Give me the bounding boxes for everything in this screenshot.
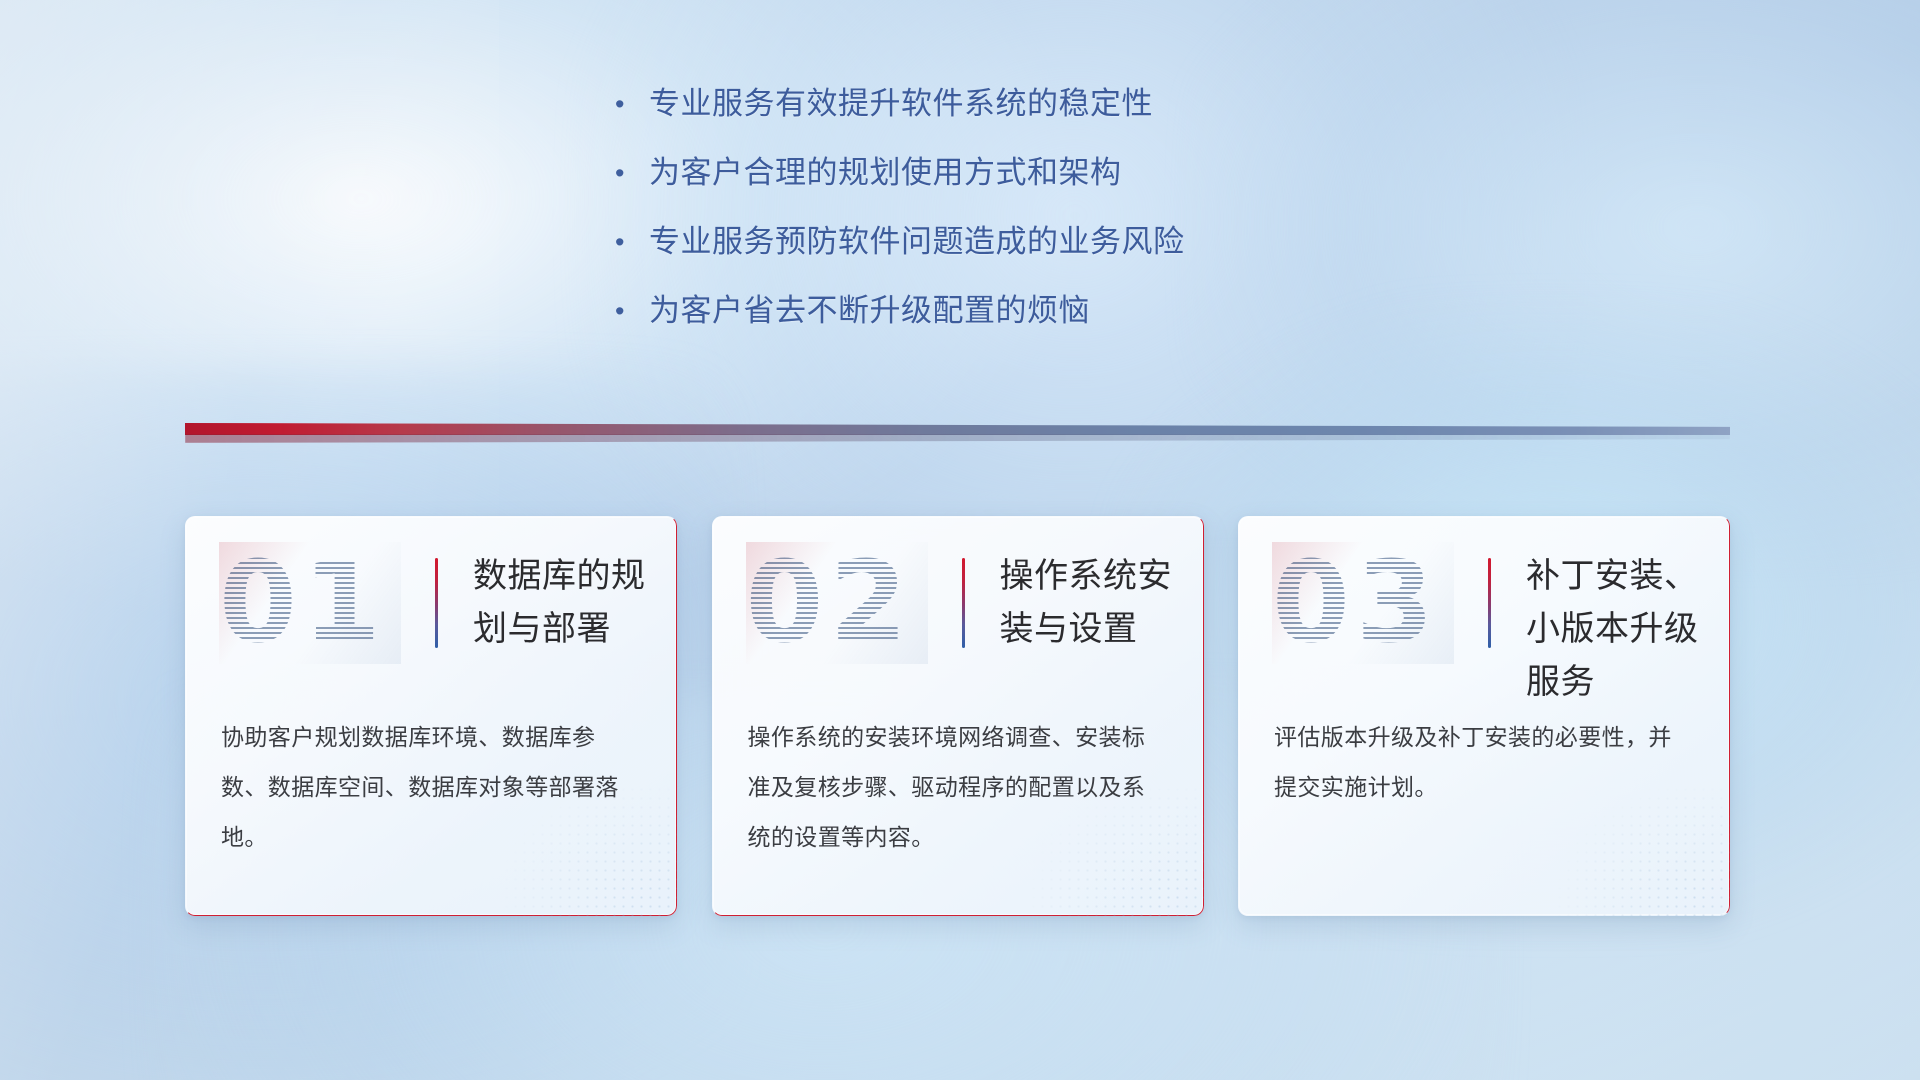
list-item: • 专业服务预防软件问题造成的业务风险 bbox=[615, 222, 1305, 262]
service-card-02[interactable]: 02 操作系统安装与设置 操作系统的安装环境网络调查、安装标准及复核步骤、驱动程… bbox=[712, 516, 1204, 916]
card-number-text: 02 bbox=[746, 542, 928, 664]
bullet-dot-icon: • bbox=[615, 222, 649, 262]
list-item: • 为客户省去不断升级配置的烦恼 bbox=[615, 291, 1305, 331]
list-item: • 专业服务有效提升软件系统的稳定性 bbox=[615, 84, 1305, 124]
card-title: 操作系统安装与设置 bbox=[1000, 550, 1185, 656]
card-header: 02 操作系统安装与设置 bbox=[712, 516, 1204, 694]
divider-rule-top bbox=[185, 423, 1730, 435]
card-header: 03 补丁安装、小版本升级服务 bbox=[1238, 516, 1730, 694]
card-description: 协助客户规划数据库环境、数据库参数、数据库空间、数据库对象等部署落地。 bbox=[221, 712, 641, 862]
card-title: 补丁安装、小版本升级服务 bbox=[1526, 550, 1711, 709]
service-card-03[interactable]: 03 补丁安装、小版本升级服务 评估版本升级及补丁安装的必要性，并提交实施计划。 bbox=[1238, 516, 1730, 916]
card-number-watermark: 03 bbox=[1272, 542, 1454, 664]
bullet-dot-icon: • bbox=[615, 153, 649, 193]
section-divider-rule bbox=[185, 423, 1730, 445]
list-item: • 为客户合理的规划使用方式和架构 bbox=[615, 153, 1305, 193]
card-description: 操作系统的安装环境网络调查、安装标准及复核步骤、驱动程序的配置以及系统的设置等内… bbox=[748, 712, 1168, 862]
service-card-row: 01 数据库的规划与部署 协助客户规划数据库环境、数据库参数、数据库空间、数据库… bbox=[185, 516, 1730, 916]
bullet-text: 专业服务预防软件问题造成的业务风险 bbox=[649, 222, 1185, 262]
bullet-dot-icon: • bbox=[615, 291, 649, 331]
card-header: 01 数据库的规划与部署 bbox=[185, 516, 677, 694]
card-number-watermark: 02 bbox=[746, 542, 928, 664]
card-title-divider bbox=[435, 558, 438, 648]
card-title-divider bbox=[1488, 558, 1491, 648]
service-card-01[interactable]: 01 数据库的规划与部署 协助客户规划数据库环境、数据库参数、数据库空间、数据库… bbox=[185, 516, 677, 916]
card-number-watermark: 01 bbox=[219, 542, 401, 664]
card-number-text: 01 bbox=[219, 542, 401, 664]
bullet-text: 专业服务有效提升软件系统的稳定性 bbox=[649, 84, 1153, 124]
divider-rule-shadow bbox=[185, 434, 1730, 443]
bullet-text: 为客户省去不断升级配置的烦恼 bbox=[649, 291, 1090, 331]
bullet-dot-icon: • bbox=[615, 84, 649, 124]
benefit-bullet-list: • 专业服务有效提升软件系统的稳定性 • 为客户合理的规划使用方式和架构 • 专… bbox=[0, 84, 1920, 360]
card-number-text: 03 bbox=[1272, 542, 1454, 664]
card-title-divider bbox=[962, 558, 965, 648]
slide-stage: • 专业服务有效提升软件系统的稳定性 • 为客户合理的规划使用方式和架构 • 专… bbox=[0, 0, 1920, 1080]
bullet-text: 为客户合理的规划使用方式和架构 bbox=[649, 153, 1122, 193]
card-title: 数据库的规划与部署 bbox=[473, 550, 658, 656]
card-description: 评估版本升级及补丁安装的必要性，并提交实施计划。 bbox=[1274, 712, 1694, 812]
